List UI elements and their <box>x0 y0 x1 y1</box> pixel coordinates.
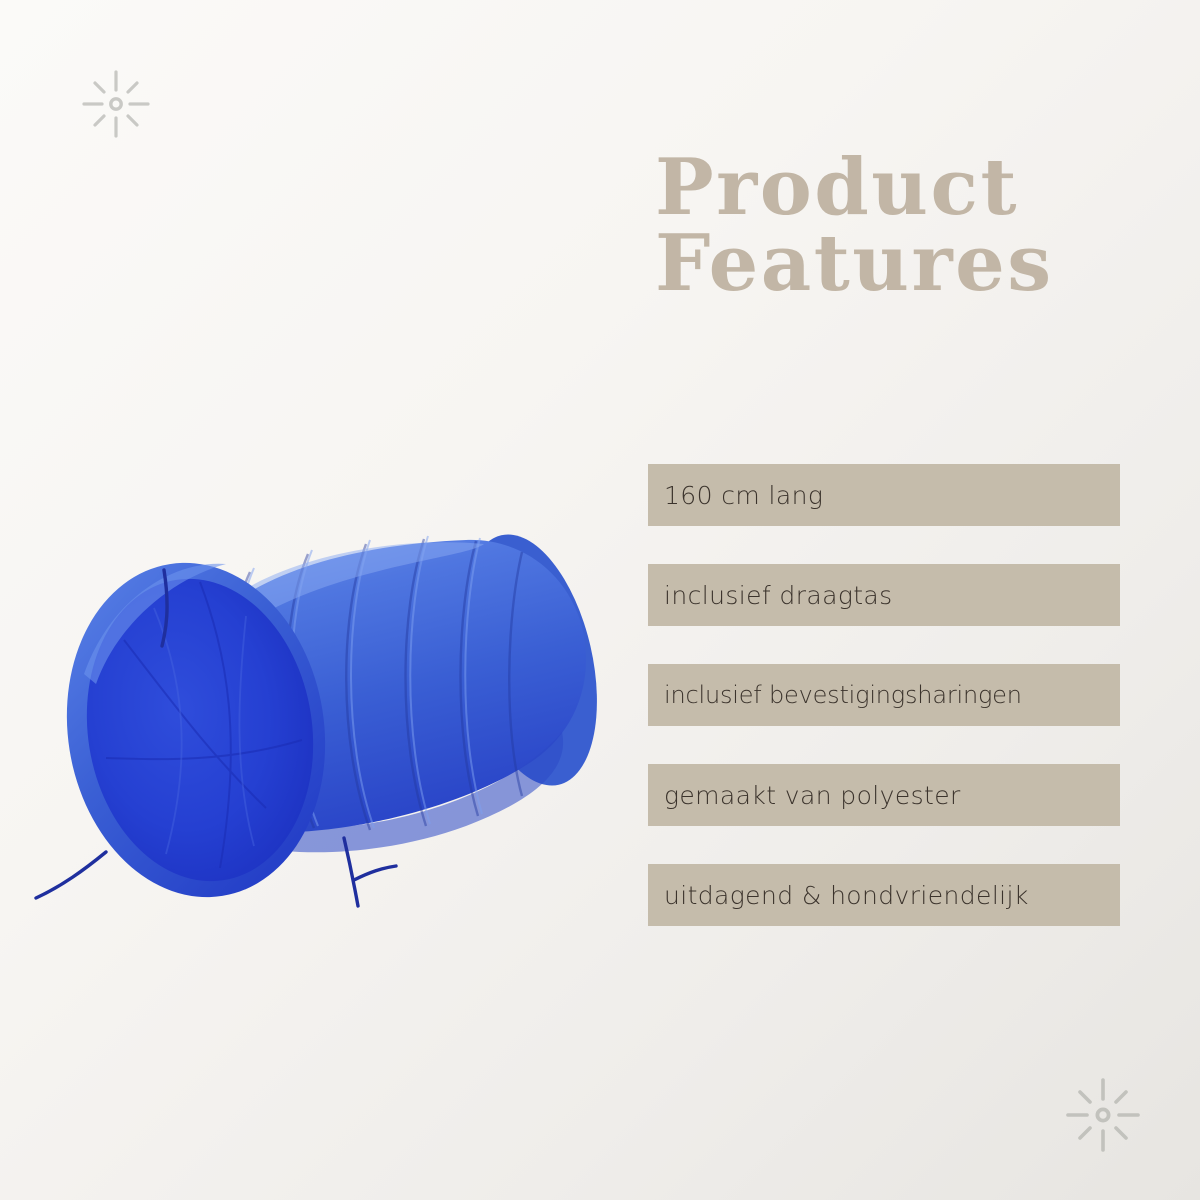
feature-label: inclusief draagtas <box>664 581 893 610</box>
feature-item: inclusief draagtas <box>648 564 1120 626</box>
page-title: Product Features <box>648 150 1128 303</box>
sparkle-icon <box>78 66 154 142</box>
feature-label: inclusief bevestigingsharingen <box>664 681 1022 709</box>
feature-label: 160 cm lang <box>664 481 823 510</box>
feature-label: gemaakt van polyester <box>664 781 961 810</box>
product-image <box>14 440 634 940</box>
feature-item: uitdagend & hondvriendelijk <box>648 864 1120 926</box>
feature-item: inclusief bevestigingsharingen <box>648 664 1120 726</box>
content-panel: Product Features <box>648 150 1128 303</box>
feature-list: 160 cm lang inclusief draagtas inclusief… <box>648 464 1120 926</box>
feature-item: 160 cm lang <box>648 464 1120 526</box>
feature-item: gemaakt van polyester <box>648 764 1120 826</box>
infographic-canvas: Product Features 160 cm lang inclusief d… <box>0 0 1200 1200</box>
sparkle-icon <box>1062 1074 1144 1156</box>
feature-label: uitdagend & hondvriendelijk <box>664 881 1029 910</box>
